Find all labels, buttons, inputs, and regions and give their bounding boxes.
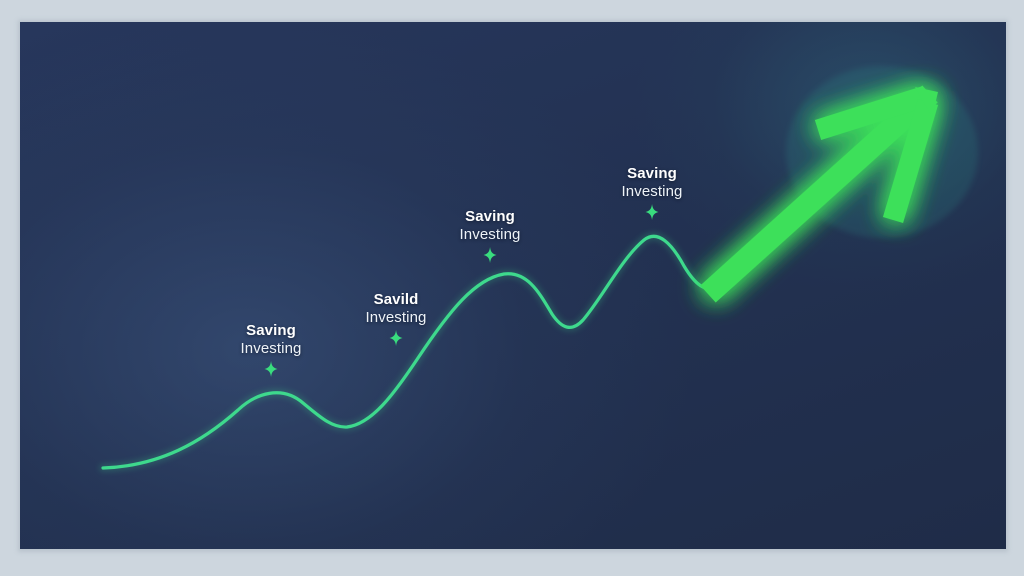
chart-canvas: Saving Investing Savild Investing Saving… bbox=[20, 22, 1006, 549]
illustration-frame: Saving Investing Savild Investing Saving… bbox=[0, 0, 1024, 576]
growth-arrow bbox=[708, 87, 938, 294]
growth-chart-svg bbox=[20, 22, 1006, 549]
growth-line bbox=[103, 236, 740, 468]
